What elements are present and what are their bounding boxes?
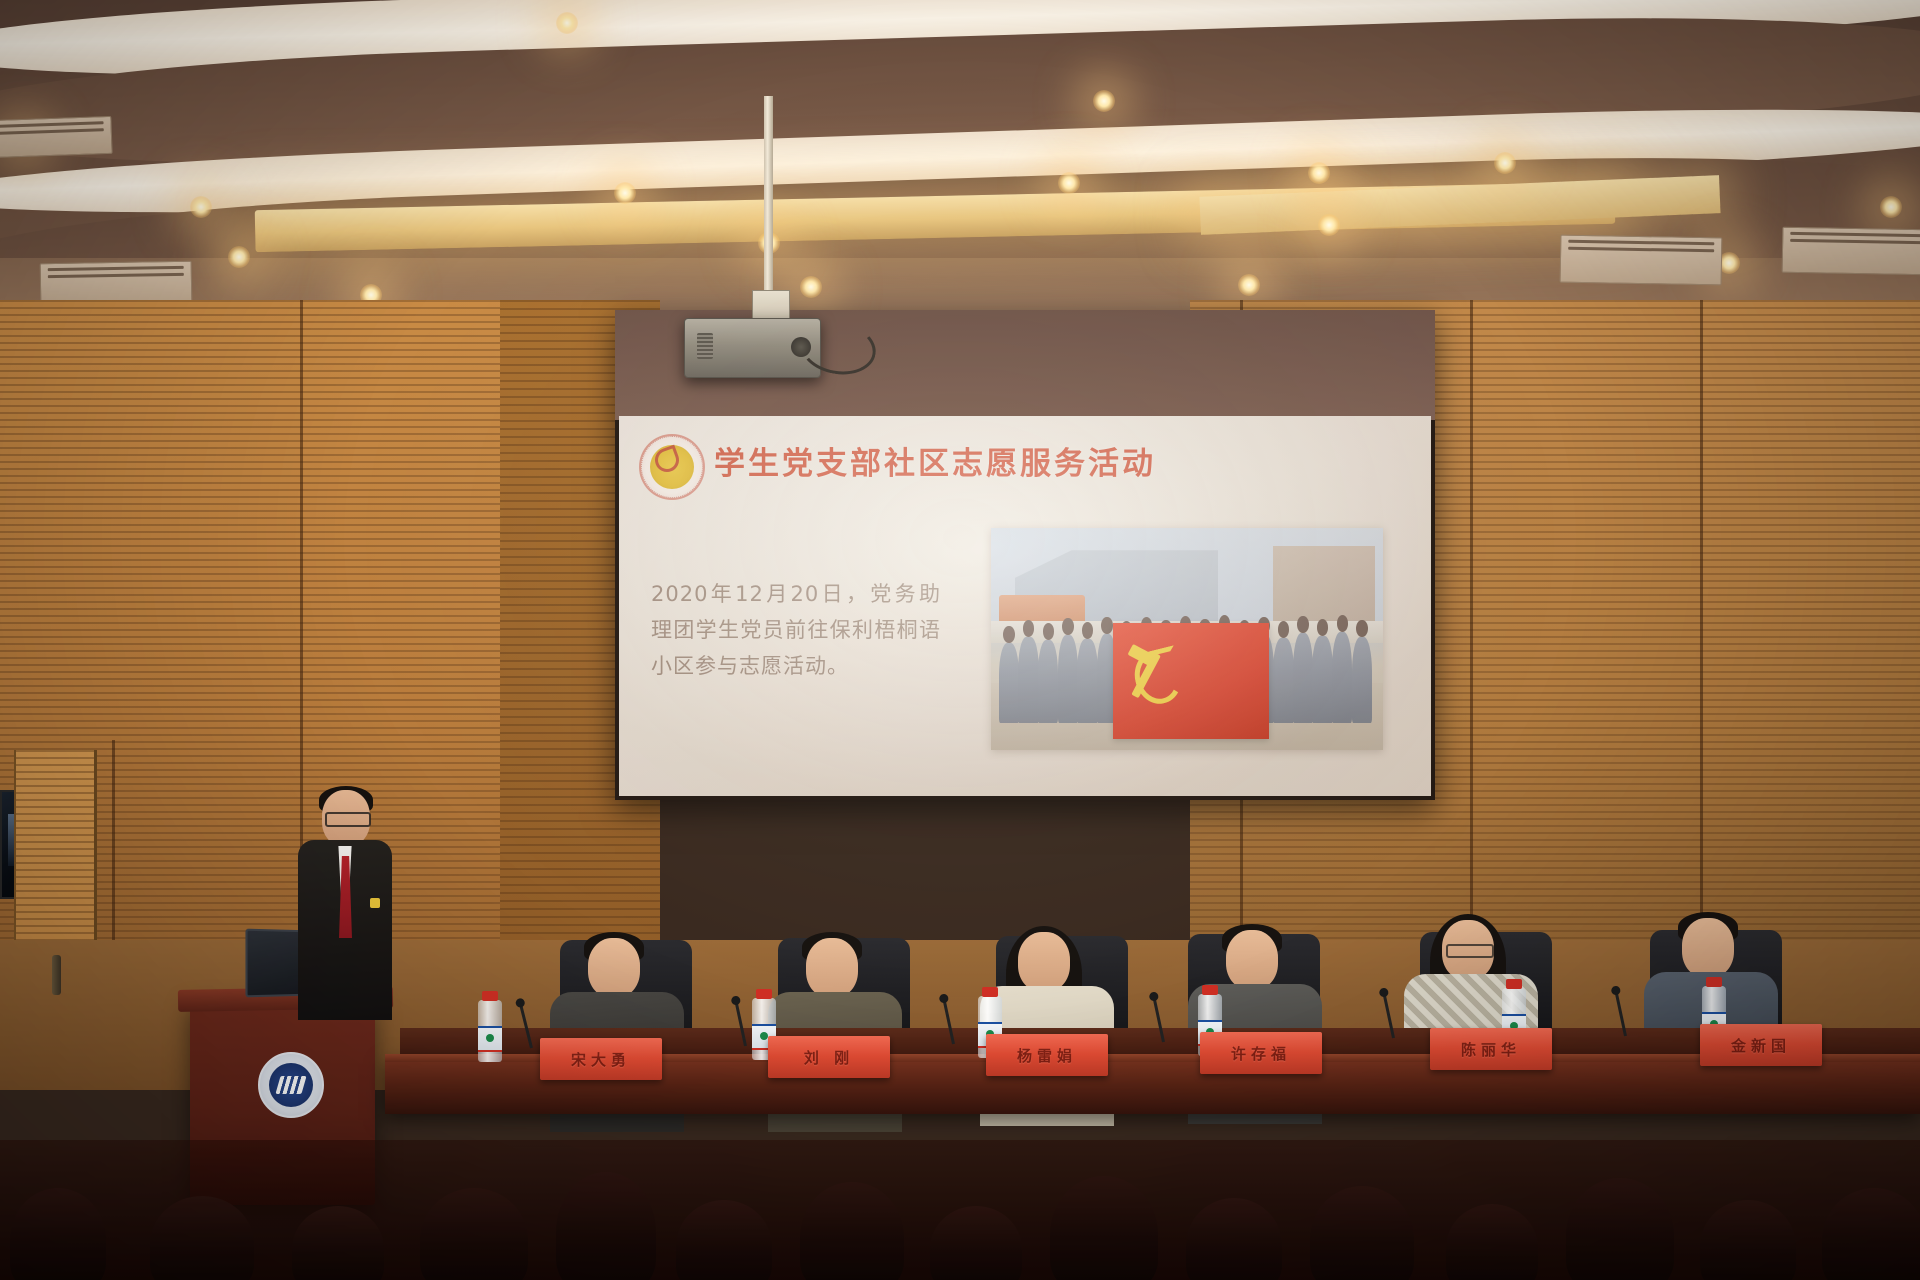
- downlight-icon: [614, 182, 636, 204]
- downlight-icon: [1494, 152, 1516, 174]
- downlight-icon: [228, 246, 250, 268]
- audience-head: [420, 1188, 528, 1280]
- name-plate: 刘 刚: [768, 1036, 890, 1078]
- audience-head: [800, 1182, 904, 1280]
- ceiling: [0, 0, 1920, 330]
- hammer-sickle-icon: [1131, 647, 1178, 705]
- name-plate-text: 刘 刚: [804, 1047, 854, 1068]
- glasses-icon: [325, 812, 371, 827]
- audience-head: [1822, 1188, 1920, 1280]
- name-plate: 陈丽华: [1430, 1028, 1552, 1070]
- audience-head: [930, 1206, 1022, 1280]
- lapel-badge-icon: [370, 898, 380, 908]
- name-plate-text: 许存福: [1231, 1043, 1291, 1064]
- audience-head: [1050, 1176, 1158, 1280]
- audience-head: [10, 1188, 106, 1280]
- audience-head: [292, 1206, 384, 1280]
- water-bottle[interactable]: [478, 1000, 502, 1062]
- projection-screen: 学生党支部社区志愿服务活动 2020年12月20日，党务助理团学生党员前往保利梧…: [619, 416, 1431, 796]
- audience-head: [556, 1172, 656, 1280]
- name-plate: 金新国: [1700, 1024, 1822, 1066]
- audience-head: [1700, 1200, 1796, 1280]
- audience-head: [150, 1196, 254, 1280]
- projector-vent-icon: [697, 333, 713, 359]
- downlight-icon: [1318, 214, 1340, 236]
- name-plate-text: 金新国: [1731, 1035, 1791, 1056]
- name-plate-text: 宋大勇: [571, 1049, 631, 1070]
- slide-body-text: 2020年12月20日，党务助理团学生党员前往保利梧桐语小区参与志愿活动。: [651, 576, 941, 684]
- audience-head: [1186, 1198, 1282, 1280]
- ac-vent: [1782, 227, 1920, 276]
- wall-seam: [1470, 300, 1473, 1000]
- ac-vent: [1560, 235, 1723, 286]
- name-plate-text: 杨雷娟: [1017, 1045, 1077, 1066]
- door-handle-icon[interactable]: [52, 955, 61, 995]
- name-plate-text: 陈丽华: [1461, 1039, 1521, 1060]
- audience-head: [1566, 1178, 1674, 1280]
- slide-photo: [991, 528, 1383, 750]
- ac-vent: [0, 116, 113, 158]
- speaker-at-podium: [292, 790, 392, 1020]
- audience-head: [676, 1200, 772, 1280]
- audience-area: [0, 1140, 1920, 1280]
- downlight-icon: [800, 276, 822, 298]
- name-plate: 宋大勇: [540, 1038, 662, 1080]
- downlight-icon: [556, 12, 578, 34]
- name-plate: 杨雷娟: [986, 1034, 1108, 1076]
- slide-title: 学生党支部社区志愿服务活动: [714, 438, 1404, 483]
- downlight-icon: [1238, 274, 1260, 296]
- university-emblem-icon: [258, 1052, 324, 1118]
- downlight-icon: [1058, 172, 1080, 194]
- party-emblem-icon: [639, 434, 705, 500]
- name-plate: 许存福: [1200, 1032, 1322, 1074]
- party-flag: [1113, 623, 1270, 738]
- wall-seam: [1700, 300, 1703, 1000]
- audience-head: [1310, 1186, 1414, 1280]
- downlight-icon: [1880, 196, 1902, 218]
- downlight-icon: [1093, 90, 1115, 112]
- downlight-icon: [1308, 162, 1330, 184]
- audience-head: [1446, 1204, 1538, 1280]
- conference-hall-scene: 学生党支部社区志愿服务活动 2020年12月20日，党务助理团学生党员前往保利梧…: [0, 0, 1920, 1280]
- downlight-icon: [190, 196, 212, 218]
- projection-screen-frame: 学生党支部社区志愿服务活动 2020年12月20日，党务助理团学生党员前往保利梧…: [615, 310, 1435, 800]
